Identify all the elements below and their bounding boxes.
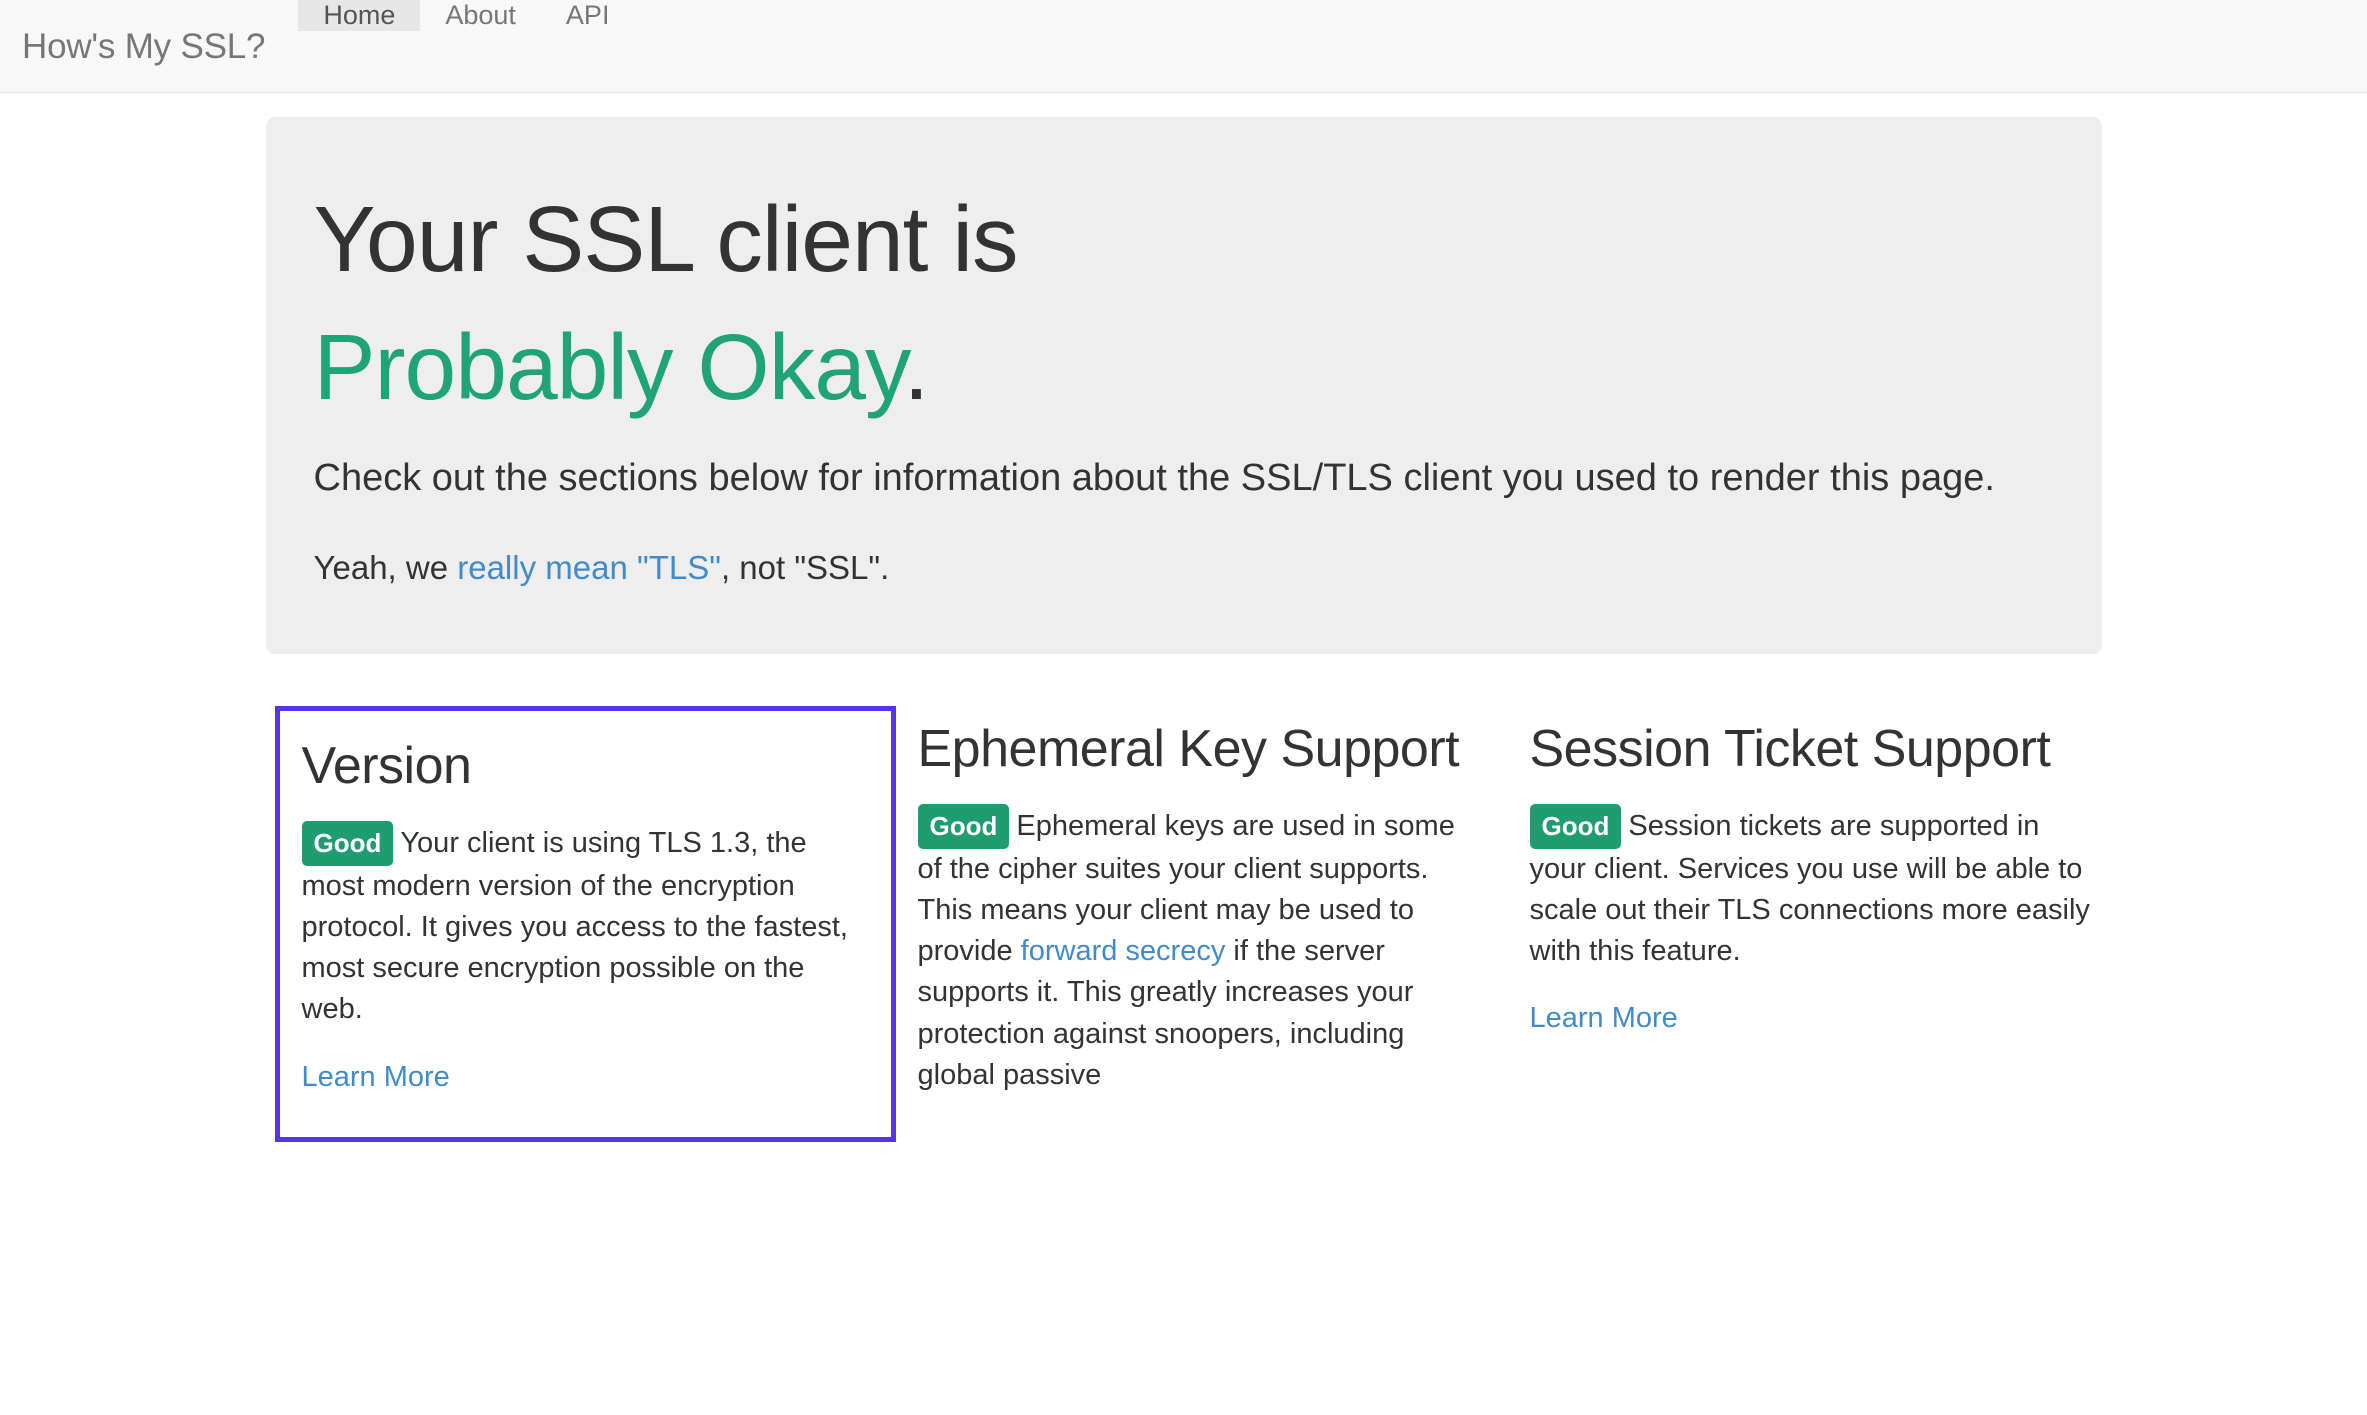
hero-headline-line1: Your SSL client is: [314, 187, 1018, 291]
status-badge-good: Good: [302, 821, 394, 866]
navbar-brand[interactable]: How's My SSL?: [0, 0, 298, 92]
hero-lead-text: Check out the sections below for informa…: [314, 452, 2054, 506]
nav-item-about[interactable]: About: [420, 0, 541, 31]
really-mean-tls-link[interactable]: really mean "TLS": [457, 549, 721, 586]
card-ephemeral-inner: Ephemeral Key Support GoodEphemeral keys…: [918, 720, 1486, 1096]
page-container: Your SSL client is Probably Okay. Check …: [266, 117, 2102, 1142]
feature-card-row: Version GoodYour client is using TLS 1.3…: [266, 706, 2102, 1143]
card-session-ticket-title: Session Ticket Support: [1530, 720, 2098, 778]
status-badge-good: Good: [918, 804, 1010, 849]
card-session-ticket-body: GoodSession tickets are supported in you…: [1530, 804, 2098, 973]
card-ephemeral-title: Ephemeral Key Support: [918, 720, 1486, 778]
card-version-title: Version: [302, 737, 869, 795]
card-version-inner: Version GoodYour client is using TLS 1.3…: [275, 706, 896, 1143]
hero-sub-suffix: , not "SSL".: [721, 549, 889, 586]
hero-verdict-line: Probably Okay.: [314, 317, 2054, 417]
nav-item-home[interactable]: Home: [298, 0, 420, 31]
card-ephemeral-key-support: Ephemeral Key Support GoodEphemeral keys…: [896, 706, 1508, 1096]
forward-secrecy-link[interactable]: forward secrecy: [1021, 935, 1226, 967]
card-session-ticket-inner: Session Ticket Support GoodSession ticke…: [1530, 720, 2098, 1039]
top-navbar: How's My SSL? Home About API: [0, 0, 2367, 93]
status-badge-good: Good: [1530, 804, 1622, 849]
card-session-ticket-support: Session Ticket Support GoodSession ticke…: [1508, 706, 2120, 1039]
nav-list-item: API: [541, 0, 635, 92]
card-version-body: GoodYour client is using TLS 1.3, the mo…: [302, 821, 869, 1031]
hero-sub-prefix: Yeah, we: [314, 549, 458, 586]
hero-sub-text: Yeah, we really mean "TLS", not "SSL".: [314, 544, 2054, 592]
card-session-ticket-learn-more-link[interactable]: Learn More: [1530, 998, 1678, 1039]
nav-list-item: Home: [298, 0, 420, 92]
nav-item-api[interactable]: API: [541, 0, 635, 31]
card-version[interactable]: Version GoodYour client is using TLS 1.3…: [275, 706, 896, 1143]
nav-list-item: About: [420, 0, 541, 92]
navbar-menu: Home About API: [298, 0, 634, 92]
card-ephemeral-body: GoodEphemeral keys are used in some of t…: [918, 804, 1486, 1096]
hero-verdict: Probably Okay: [314, 315, 904, 419]
hero-verdict-period: .: [904, 315, 929, 419]
hero-headline: Your SSL client is Probably Okay.: [314, 189, 2054, 418]
card-version-learn-more-link[interactable]: Learn More: [302, 1057, 450, 1098]
hero-jumbotron: Your SSL client is Probably Okay. Check …: [266, 117, 2102, 654]
